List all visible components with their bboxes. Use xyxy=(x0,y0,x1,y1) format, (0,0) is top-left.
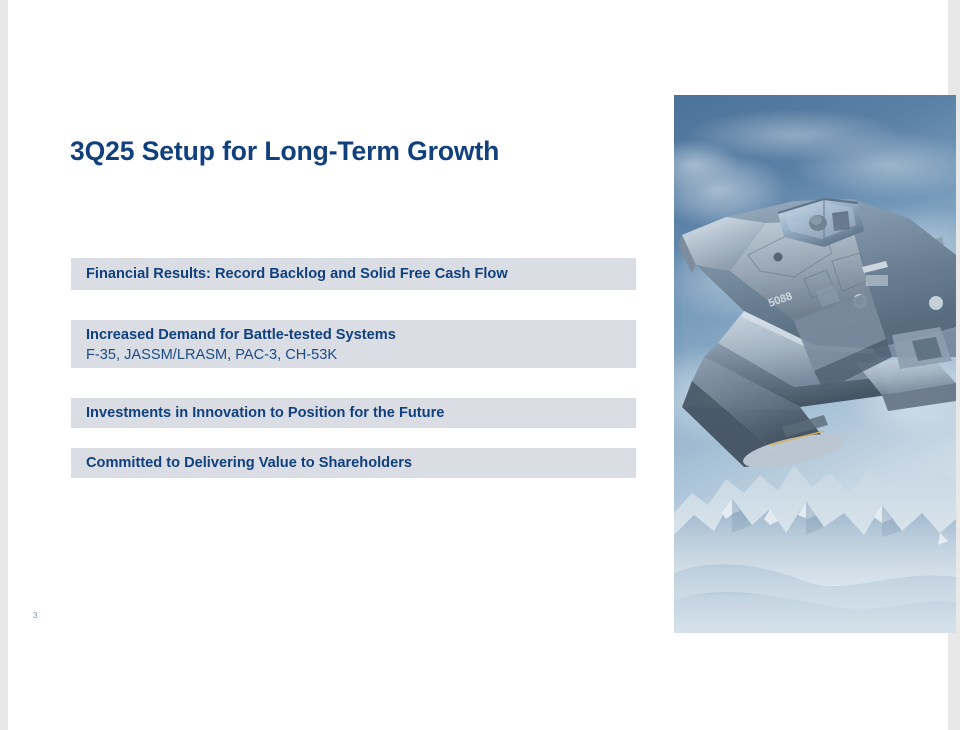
bullet-bar-heading: Investments in Innovation to Position fo… xyxy=(86,403,636,423)
bullet-bar-financial-results: Financial Results: Record Backlog and So… xyxy=(71,258,636,290)
bullet-bar-committed-shareholders: Committed to Delivering Value to Shareho… xyxy=(71,448,636,478)
bullet-bar-heading: Increased Demand for Battle-tested Syste… xyxy=(86,325,636,345)
bullet-bar-heading: Committed to Delivering Value to Shareho… xyxy=(86,453,636,473)
page-title: 3Q25 Setup for Long-Term Growth xyxy=(70,136,499,167)
bullet-bar-increased-demand: Increased Demand for Battle-tested Syste… xyxy=(71,320,636,368)
bullet-bar-investments-innovation: Investments in Innovation to Position fo… xyxy=(71,398,636,428)
bullet-bar-heading: Financial Results: Record Backlog and So… xyxy=(86,264,636,284)
page-number: 3 xyxy=(33,611,37,620)
f35-jet-photo: 5088 xyxy=(674,95,956,633)
slide-surface: 3Q25 Setup for Long-Term Growth Financia… xyxy=(8,0,948,730)
bullet-bar-subtext: F-35, JASSM/LRASM, PAC-3, CH-53K xyxy=(86,345,636,366)
f35-jet-illustration: 5088 xyxy=(674,95,956,633)
slide-root: 3Q25 Setup for Long-Term Growth Financia… xyxy=(0,0,960,730)
